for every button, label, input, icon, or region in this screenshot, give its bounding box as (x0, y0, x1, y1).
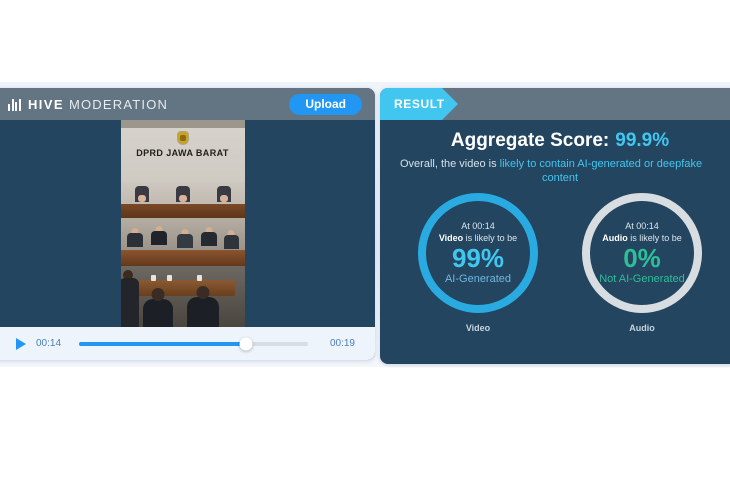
chamber-dais (121, 182, 245, 218)
mid-row-desk (121, 250, 245, 266)
floor-table (131, 280, 235, 296)
result-header: RESULT (380, 88, 730, 120)
standing-person (121, 270, 139, 327)
aggregate-score-row: Aggregate Score:99.9% (380, 130, 730, 152)
table-cup (197, 275, 202, 281)
audio-gauge-lead: Audio is likely to be (602, 233, 682, 243)
seated-person (127, 228, 143, 250)
waveform-bars-icon (8, 98, 22, 111)
video-gauge-time: At 00:14 (461, 221, 495, 231)
video-gauge: At 00:14 Video is likely to be 99% AI-Ge… (418, 193, 538, 333)
hive-brand: HIVE MODERATION (8, 97, 168, 112)
video-gauge-lead: Video is likely to be (439, 233, 517, 243)
dais-seat (176, 186, 190, 202)
summary-plain-text: Overall, the video is (400, 158, 500, 170)
chamber-mid-rows (121, 218, 245, 266)
audio-gauge-lead-rest: is likely to be (628, 233, 682, 243)
current-time-label: 00:14 (36, 338, 61, 349)
video-player-panel: HIVE MODERATION Upload DPRD JAWA BARAT (0, 88, 375, 360)
back-facing-person (187, 297, 219, 327)
video-stage[interactable]: DPRD JAWA BARAT (0, 120, 375, 327)
brand-name-hive: HIVE (28, 97, 64, 112)
seek-bar[interactable] (79, 342, 308, 346)
table-cup (167, 275, 172, 281)
video-gauge-caption: Video (418, 323, 538, 333)
table-cup (151, 275, 156, 281)
audio-gauge-ring: At 00:14 Audio is likely to be 0% Not AI… (582, 193, 702, 313)
audio-gauge-caption: Audio (582, 323, 702, 333)
audio-gauge-verdict: Not AI-Generated (599, 273, 685, 285)
garuda-emblem-icon (178, 132, 188, 144)
seated-person (201, 227, 217, 250)
chamber-floor (121, 266, 245, 327)
play-icon[interactable] (16, 338, 26, 350)
summary-line-2: content (380, 172, 730, 184)
dais-desk (121, 204, 245, 218)
audio-gauge-time: At 00:14 (625, 221, 659, 231)
back-facing-person (143, 299, 173, 327)
chamber-sign-text: DPRD JAWA BARAT (121, 148, 245, 158)
gauge-group: At 00:14 Video is likely to be 99% AI-Ge… (380, 193, 730, 343)
video-gauge-lead-bold: Video (439, 233, 463, 243)
screenshot-root: HIVE MODERATION Upload DPRD JAWA BARAT (0, 0, 730, 487)
video-gauge-percent: 99% (452, 244, 504, 272)
chamber-wall: DPRD JAWA BARAT (121, 120, 245, 182)
audio-gauge-lead-bold: Audio (602, 233, 628, 243)
result-panel: RESULT Aggregate Score:99.9% Overall, th… (380, 88, 730, 364)
audio-gauge: At 00:14 Audio is likely to be 0% Not AI… (582, 193, 702, 333)
player-controls: 00:14 00:19 (0, 327, 375, 360)
video-gauge-lead-rest: is likely to be (463, 233, 517, 243)
dais-seat (135, 186, 149, 202)
aggregate-score-value: 99.9% (615, 130, 669, 151)
wall-top-trim (121, 120, 245, 128)
video-frame[interactable]: DPRD JAWA BARAT (121, 120, 245, 327)
aggregate-score-label: Aggregate Score: (451, 130, 609, 151)
dais-seat (217, 186, 231, 202)
hive-app-header: HIVE MODERATION Upload (0, 88, 375, 120)
result-badge: RESULT (380, 88, 458, 120)
seated-person (224, 230, 239, 250)
brand-name-moderation: MODERATION (69, 97, 168, 112)
audio-gauge-percent: 0% (623, 244, 661, 272)
seated-person (151, 226, 167, 250)
summary-highlight-text: likely to contain AI-generated or deepfa… (500, 158, 702, 170)
video-gauge-ring: At 00:14 Video is likely to be 99% AI-Ge… (418, 193, 538, 313)
seek-bar-handle[interactable] (240, 337, 253, 350)
seek-bar-fill (79, 342, 246, 346)
summary-line-1: Overall, the video is likely to contain … (400, 156, 730, 172)
upload-button[interactable]: Upload (289, 94, 362, 115)
seated-person (177, 229, 193, 250)
video-gauge-verdict: AI-Generated (445, 273, 511, 285)
duration-label: 00:19 (330, 338, 355, 349)
